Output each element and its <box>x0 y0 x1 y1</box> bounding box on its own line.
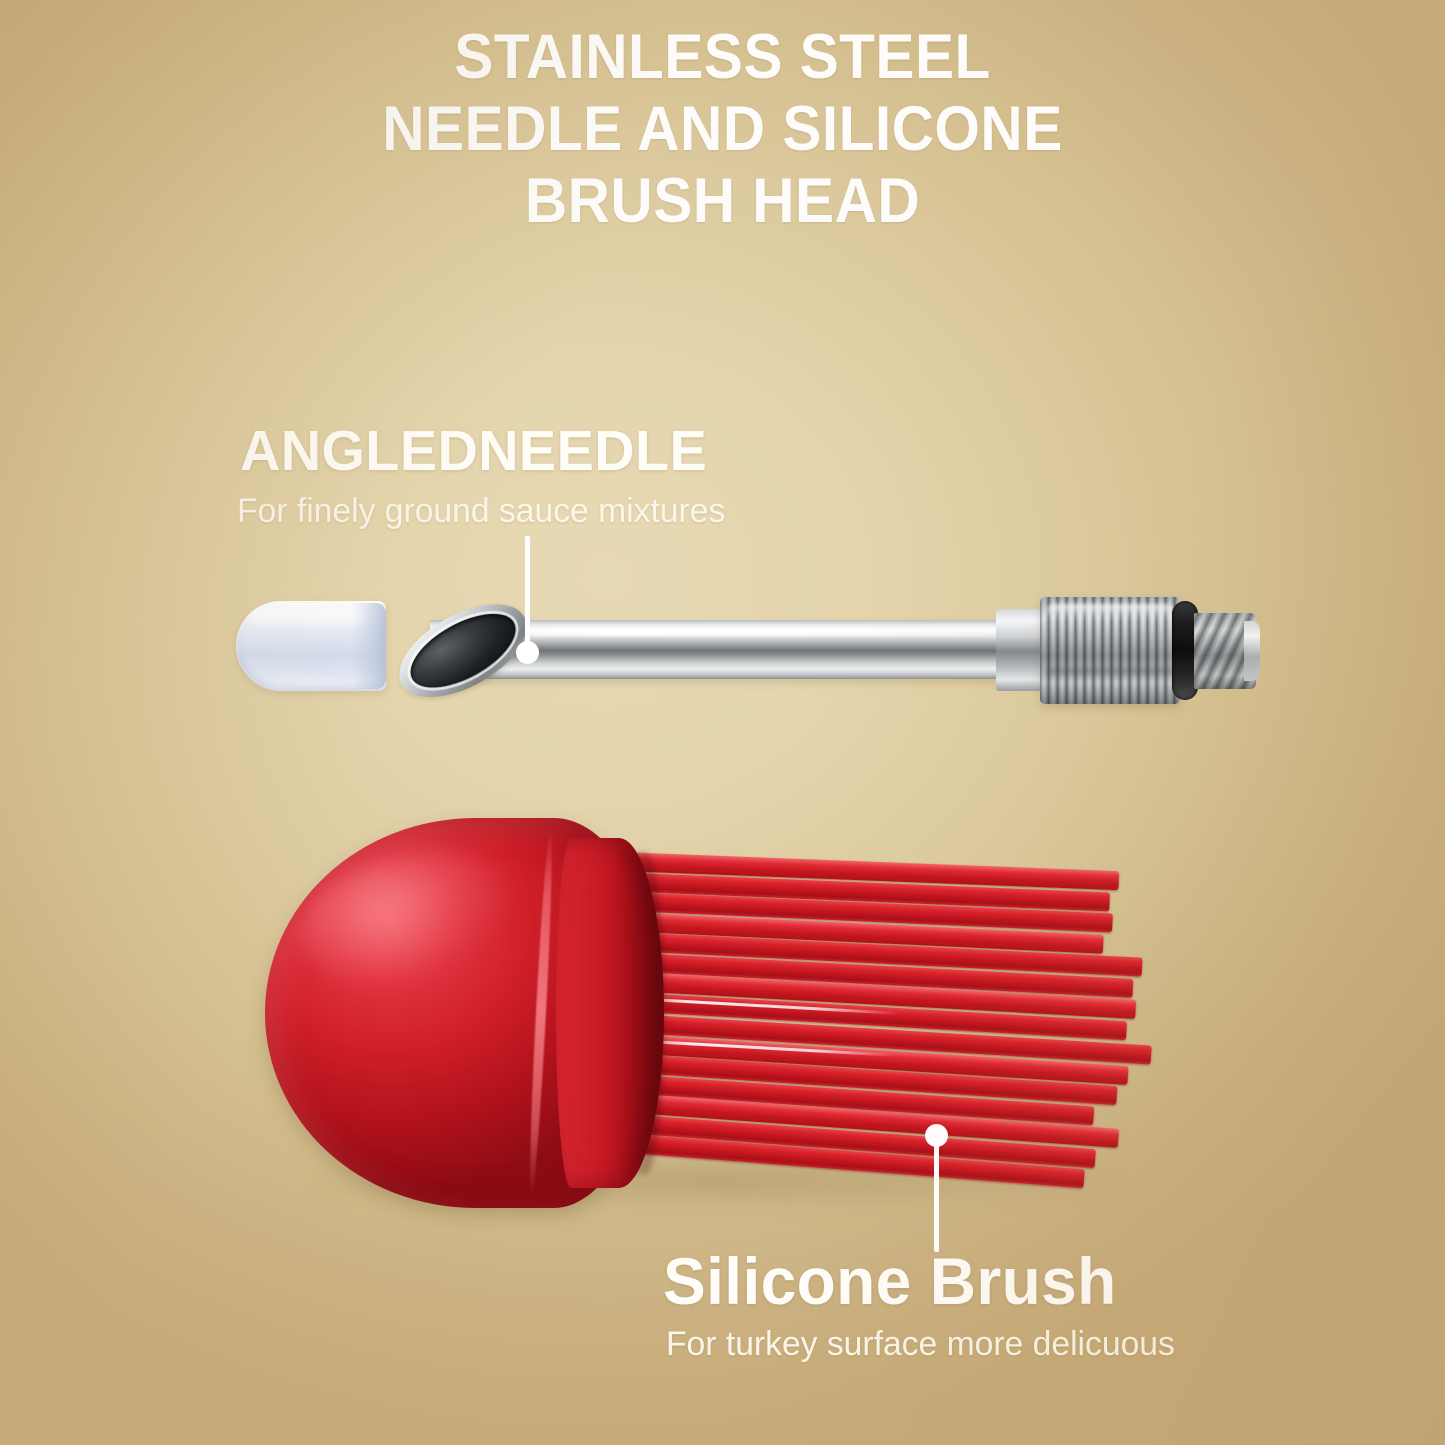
callout-title-silicone-brush: Silicone Brush <box>663 1243 1117 1319</box>
silicone-brush-product-image <box>0 0 1445 1445</box>
infographic-canvas: STAINLESS STEEL NEEDLE AND SILICONE BRUS… <box>0 0 1445 1445</box>
callout-subtitle-silicone-brush: For turkey surface more delicuous <box>666 1325 1175 1364</box>
brush-collar-shadow <box>618 852 664 1174</box>
leader-line-silicone-brush <box>934 1140 939 1252</box>
